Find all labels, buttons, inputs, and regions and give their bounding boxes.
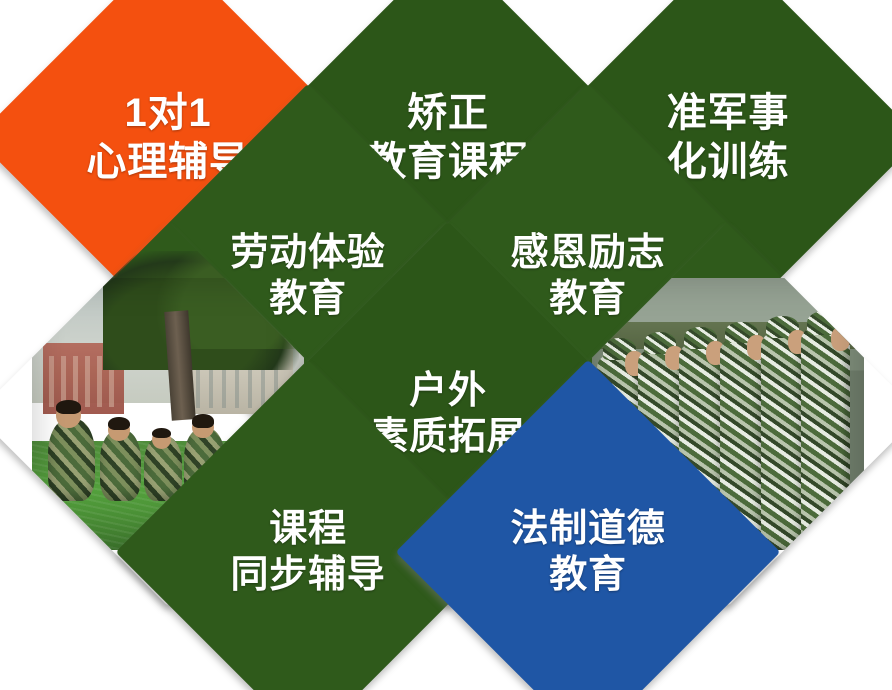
student-hair bbox=[152, 428, 171, 439]
soldier-face bbox=[831, 327, 850, 351]
tile-label: 法制道德 教育 bbox=[510, 506, 665, 599]
soldier bbox=[801, 327, 850, 550]
soldier bbox=[761, 332, 805, 550]
tile-content: 法制道德 教育 bbox=[452, 416, 724, 688]
student-hair bbox=[56, 400, 80, 414]
tile-label: 准军事 化训练 bbox=[667, 89, 789, 187]
student-hair bbox=[192, 414, 214, 428]
student-hair bbox=[108, 417, 130, 431]
diamond-grid-infographic: 1对1 心理辅导 矫正 教育课程 准军事 化训练 劳动体验 教育 bbox=[0, 0, 892, 690]
tile-label: 课程 同步辅导 bbox=[230, 506, 385, 599]
student bbox=[48, 419, 94, 501]
